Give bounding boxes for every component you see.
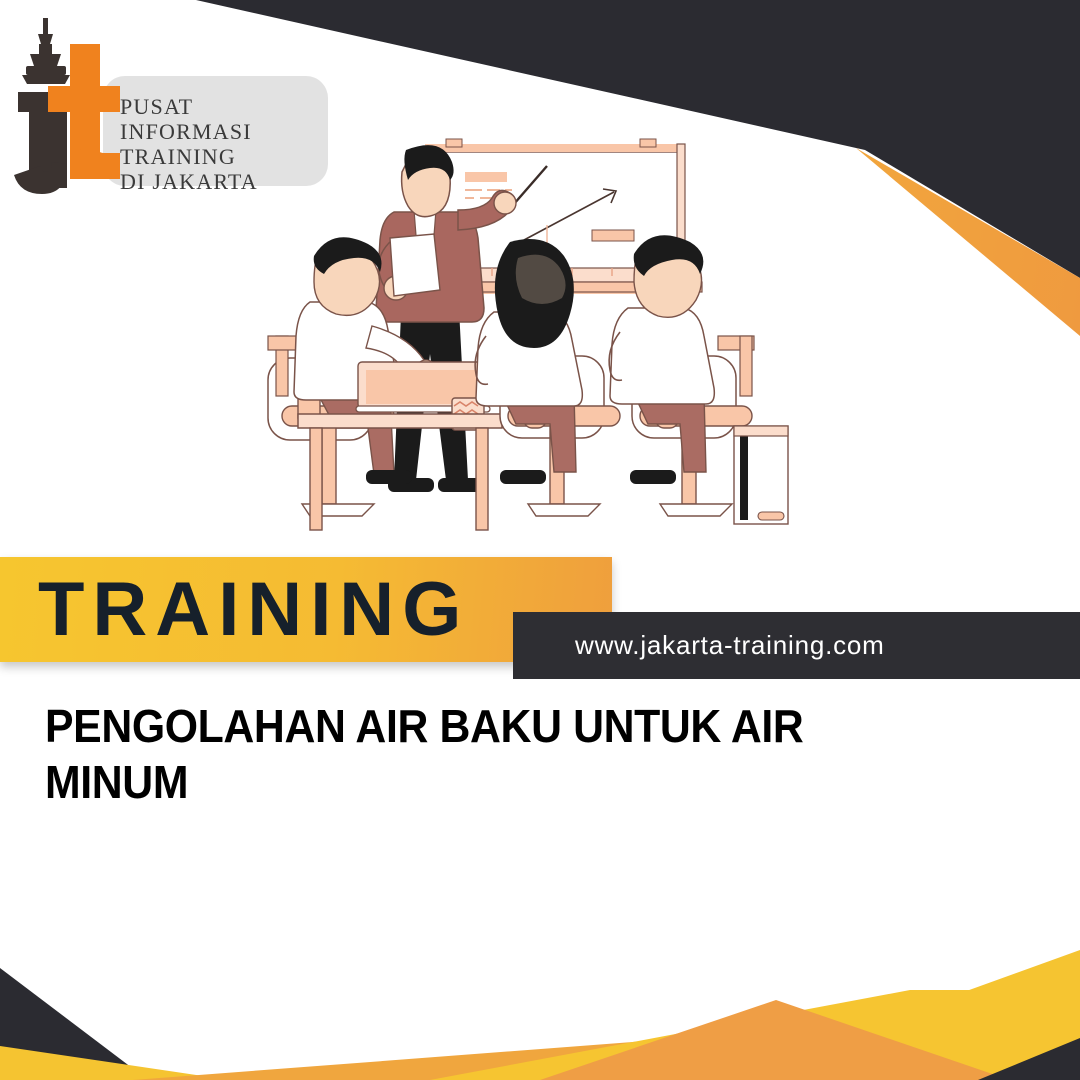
logo-jt-mark [8, 14, 120, 214]
presenter-paper [390, 234, 440, 296]
table-top [298, 414, 502, 428]
website-url-bar[interactable]: www.jakarta-training.com [513, 612, 1080, 679]
training-banner-label: TRAINING [38, 569, 469, 651]
board-title-block [465, 172, 507, 182]
training-classroom-illustration: .ol{stroke:#7a5349;stroke-width:1.6;fill… [262, 130, 802, 550]
website-url-label: www.jakarta-training.com [575, 630, 885, 661]
board-legend-block [592, 230, 634, 241]
monas-tower-icon [22, 18, 70, 84]
page-title: PENGOLAHAN AIR BAKU UNTUK AIR MINUM [45, 698, 929, 810]
trash-bin [734, 426, 788, 524]
poster-canvas: PUSAT INFORMASI TRAINING DI JAKARTA .ol{… [0, 0, 1080, 1080]
